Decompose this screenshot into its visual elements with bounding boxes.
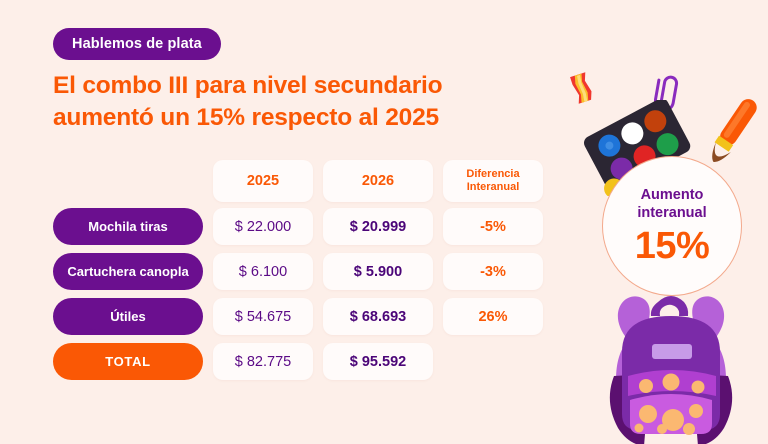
cell-difference: -3% xyxy=(443,253,543,290)
circle-value: 15% xyxy=(635,227,710,265)
price-comparison-table: 2025 2026 Diferencia Interanual Mochila … xyxy=(53,160,563,388)
table-header-difference-line-2: Interanual xyxy=(467,181,520,193)
table-header-row: 2025 2026 Diferencia Interanual xyxy=(53,160,563,202)
headline-line-1: El combo III para nivel secundario xyxy=(53,72,442,99)
cell-2026: $ 5.900 xyxy=(323,253,433,290)
headline-line-2: aumentó un 15% respecto al 2025 xyxy=(53,104,439,131)
topic-badge-label: Hablemos de plata xyxy=(72,36,202,52)
row-label: Mochila tiras xyxy=(53,208,203,245)
table-header-difference-line-1: Diferencia xyxy=(466,168,519,180)
table-row: Mochila tiras $ 22.000 $ 20.999 -5% xyxy=(53,208,563,245)
table-header-2026: 2026 xyxy=(323,160,433,202)
infographic-canvas: Hablemos de plata El combo III para nive… xyxy=(0,0,768,444)
cell-2025-total: $ 82.775 xyxy=(213,343,313,380)
cell-difference: -5% xyxy=(443,208,543,245)
cell-2026: $ 20.999 xyxy=(323,208,433,245)
status-badge-annual-increase: Aumento interanual 15% xyxy=(602,156,742,296)
table-header-2025: 2025 xyxy=(213,160,313,202)
row-label-total: TOTAL xyxy=(53,343,203,380)
table-row-total: TOTAL $ 82.775 $ 95.592 xyxy=(53,343,563,380)
cell-2025: $ 22.000 xyxy=(213,208,313,245)
table-header-spacer xyxy=(53,160,203,202)
cell-difference-total-empty xyxy=(443,343,543,380)
cell-2025: $ 6.100 xyxy=(213,253,313,290)
cell-difference: 26% xyxy=(443,298,543,335)
table-header-difference: Diferencia Interanual xyxy=(443,160,543,202)
topic-badge: Hablemos de plata xyxy=(53,28,221,60)
table-row: Útiles $ 54.675 $ 68.693 26% xyxy=(53,298,563,335)
page-title: El combo III para nivel secundario aumen… xyxy=(53,70,553,135)
circle-title: Aumento interanual xyxy=(637,187,706,221)
circle-title-line-2: interanual xyxy=(637,205,706,221)
cell-2025: $ 54.675 xyxy=(213,298,313,335)
table-row: Cartuchera canopla $ 6.100 $ 5.900 -3% xyxy=(53,253,563,290)
circle-title-line-1: Aumento xyxy=(641,187,704,203)
cell-2026-total: $ 95.592 xyxy=(323,343,433,380)
row-label: Cartuchera canopla xyxy=(53,253,203,290)
cell-2026: $ 68.693 xyxy=(323,298,433,335)
row-label: Útiles xyxy=(53,298,203,335)
